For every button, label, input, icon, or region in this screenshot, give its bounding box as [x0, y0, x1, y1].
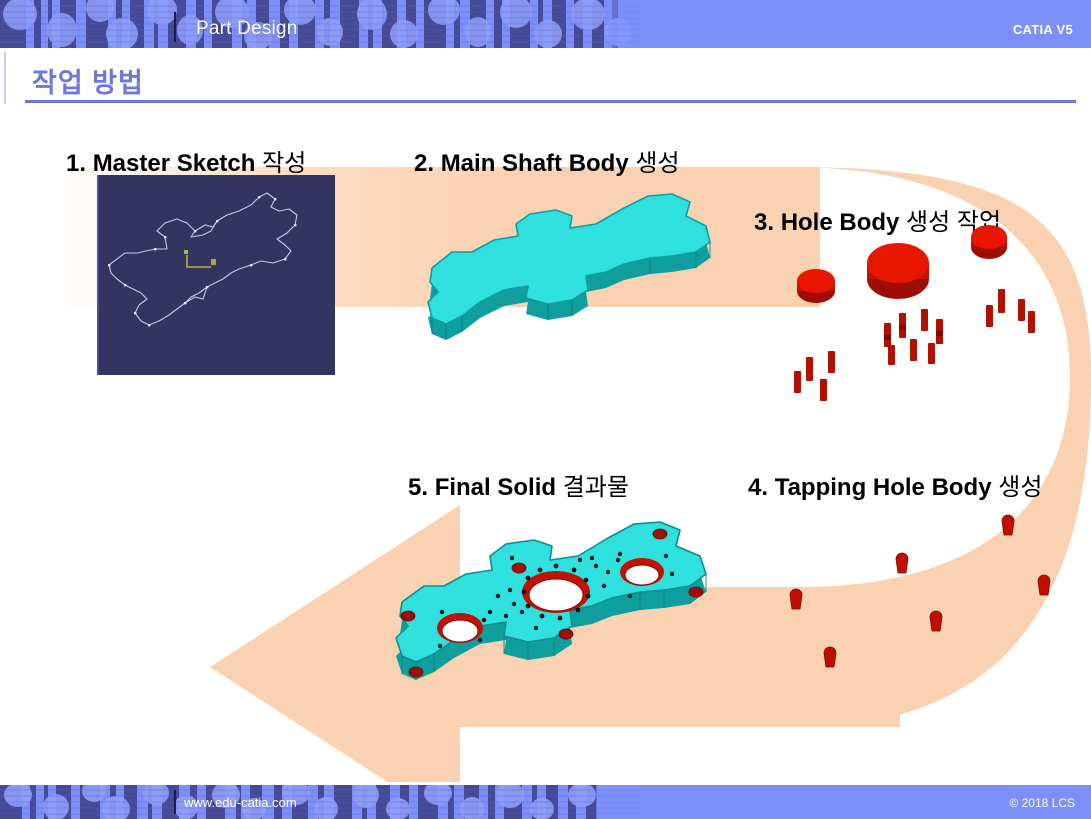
- step-5-title-en: Final Solid: [435, 474, 556, 501]
- hole-cylinder-large: [867, 243, 929, 299]
- step-1-title-kr: 작성: [262, 150, 306, 177]
- step-3-index: 3.: [754, 209, 774, 236]
- footer-decorative-pattern: [0, 785, 640, 819]
- title-left-tick: [4, 52, 6, 104]
- header-decorative-pattern: [0, 0, 640, 48]
- slide-header: Part Design CATIA V5: [0, 0, 1091, 48]
- step-2-index: 2.: [414, 150, 434, 177]
- step-5-title-kr: 결과물: [563, 474, 629, 501]
- step-5-index: 5.: [408, 474, 428, 501]
- title-underline-rule: [25, 100, 1076, 103]
- hole-cylinder-medium-right: [971, 225, 1007, 259]
- header-divider: [174, 12, 176, 42]
- step-2-title-kr: 생성: [635, 150, 679, 177]
- hole-pin-group: [794, 289, 1035, 401]
- page-title: 작업 방법: [32, 61, 144, 100]
- hole-cylinder-medium-left: [797, 269, 835, 303]
- slide-footer: www.edu-catia.com © 2018 LCS: [0, 785, 1091, 819]
- header-title: Part Design: [196, 18, 297, 40]
- arm-bore-right: [620, 558, 664, 586]
- main-shaft-body-model: [410, 190, 730, 355]
- tapping-pin-group: [790, 515, 1050, 667]
- header-brand-label: CATIA V5: [1013, 22, 1073, 37]
- step-5-label: 5. Final Solid 결과물: [408, 467, 629, 502]
- header-bottom-rule: [0, 48, 1091, 51]
- hole-body-model: [780, 215, 1080, 405]
- footer-divider: [174, 790, 176, 814]
- arm-bore-left: [437, 613, 483, 643]
- tapping-hole-body-model: [760, 495, 1080, 685]
- step-1-index: 1.: [66, 150, 86, 177]
- footer-copyright: © 2018 LCS: [1009, 796, 1075, 810]
- step-2-label: 2. Main Shaft Body 생성: [414, 143, 680, 178]
- step-2-title-en: Main Shaft Body: [441, 150, 629, 177]
- footer-url-link[interactable]: www.edu-catia.com: [184, 795, 297, 810]
- slide-canvas: Part Design CATIA V5 작업 방법 1. Master Ske…: [0, 0, 1091, 819]
- step-1-title-en: Master Sketch: [93, 150, 256, 177]
- step-1-label: 1. Master Sketch 작성: [66, 143, 306, 178]
- final-solid-model: [380, 500, 740, 700]
- master-sketch-viewport: [97, 175, 335, 375]
- center-bore: [522, 571, 590, 613]
